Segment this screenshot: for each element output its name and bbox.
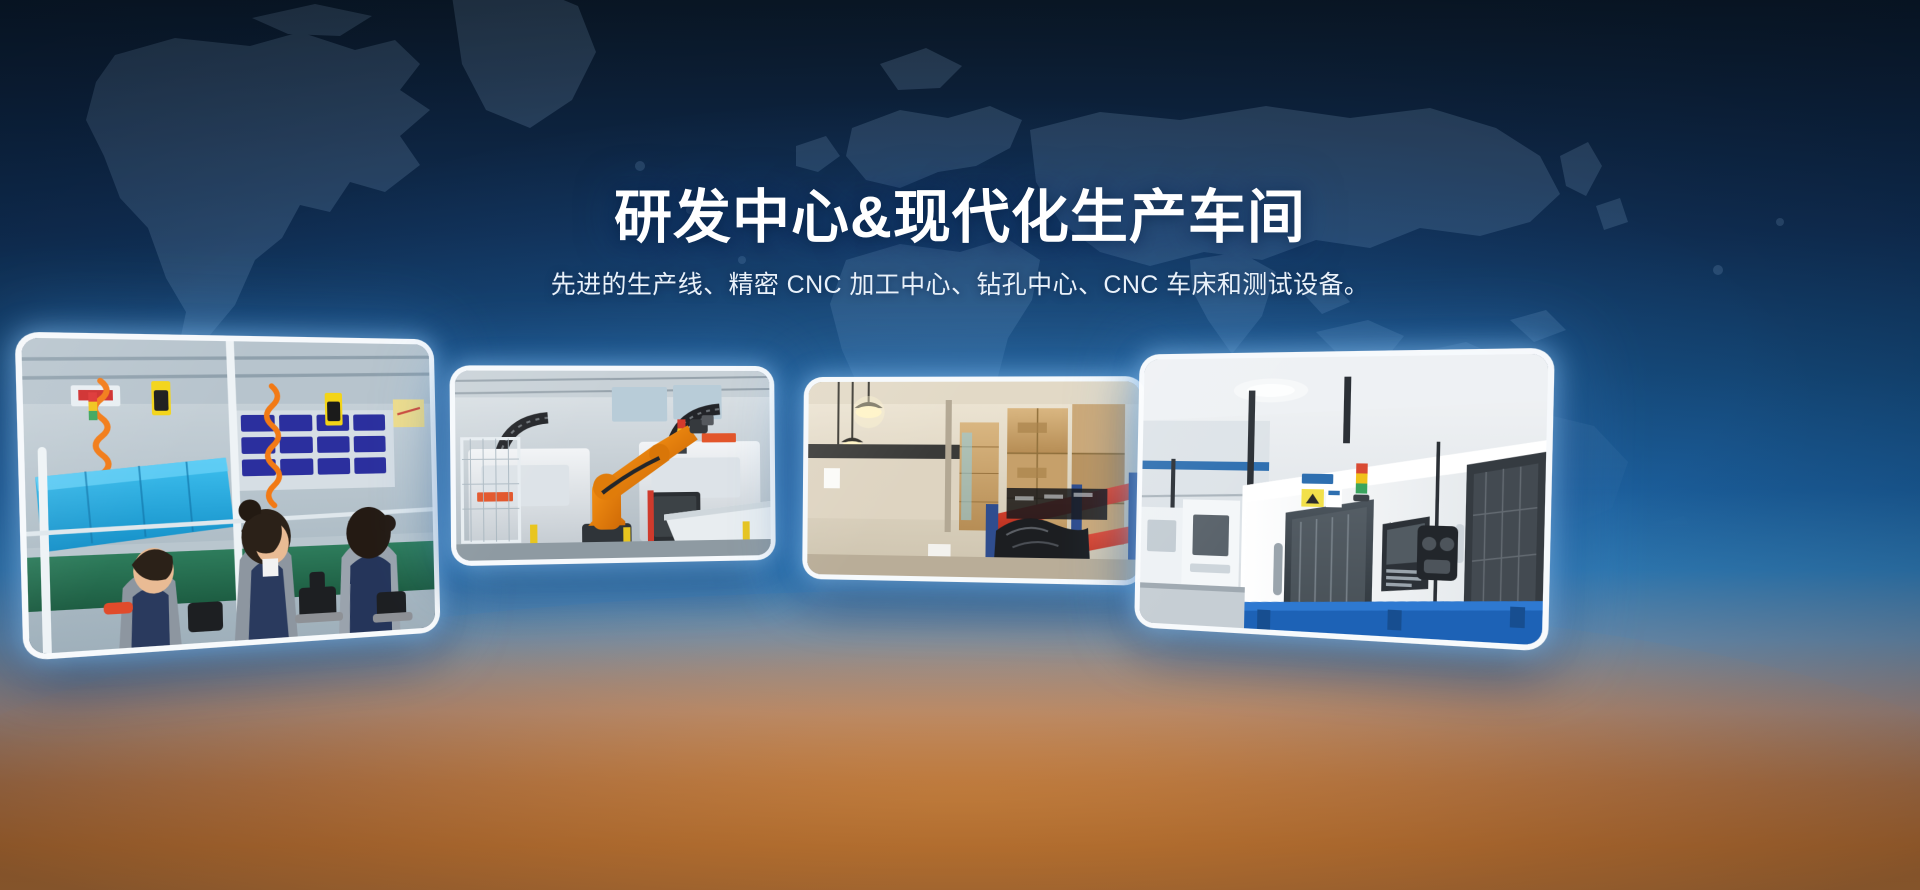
cnc-lathe-workshop-photo[interactable]: [1139, 354, 1548, 646]
cnc-machining-center-photo[interactable]: [455, 371, 771, 561]
hero-banner: 研发中心&现代化生产车间 先进的生产线、精密 CNC 加工中心、钻孔中心、CNC…: [0, 0, 1920, 890]
cnc-machining-center-image: [455, 371, 771, 561]
page-subtitle: 先进的生产线、精密 CNC 加工中心、钻孔中心、CNC 车床和测试设备。: [0, 267, 1920, 303]
warehouse-image: [807, 381, 1140, 580]
warehouse-photo[interactable]: [807, 381, 1140, 580]
page-title: 研发中心&现代化生产车间: [0, 186, 1920, 251]
photo-gallery: [0, 0, 1920, 890]
assembly-line-image: [21, 338, 435, 655]
banner-text-block: 研发中心&现代化生产车间 先进的生产线、精密 CNC 加工中心、钻孔中心、CNC…: [0, 186, 1920, 303]
assembly-line-photo[interactable]: [21, 338, 435, 655]
cnc-lathe-workshop-image: [1139, 354, 1548, 646]
